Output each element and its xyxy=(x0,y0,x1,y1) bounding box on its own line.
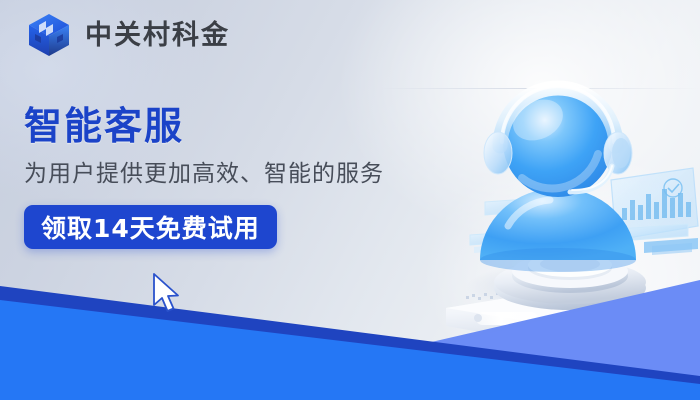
hero-copy: 智能客服 为用户提供更加高效、智能的服务 领取14天免费试用 xyxy=(24,106,384,249)
bottom-ribbons xyxy=(0,280,700,400)
hero-subtitle: 为用户提供更加高效、智能的服务 xyxy=(24,161,384,189)
brand-header: 中关村科金 xyxy=(26,12,230,58)
promo-banner: 中关村科金 智能客服 为用户提供更加高效、智能的服务 领取14天免费试用 xyxy=(0,0,700,400)
isometric-cube-logo-icon xyxy=(26,12,72,58)
mouse-pointer-arrow-icon xyxy=(151,272,185,318)
brand-name: 中关村科金 xyxy=(85,22,230,49)
page-title: 智能客服 xyxy=(24,106,384,148)
free-trial-button[interactable]: 领取14天免费试用 xyxy=(24,205,277,249)
